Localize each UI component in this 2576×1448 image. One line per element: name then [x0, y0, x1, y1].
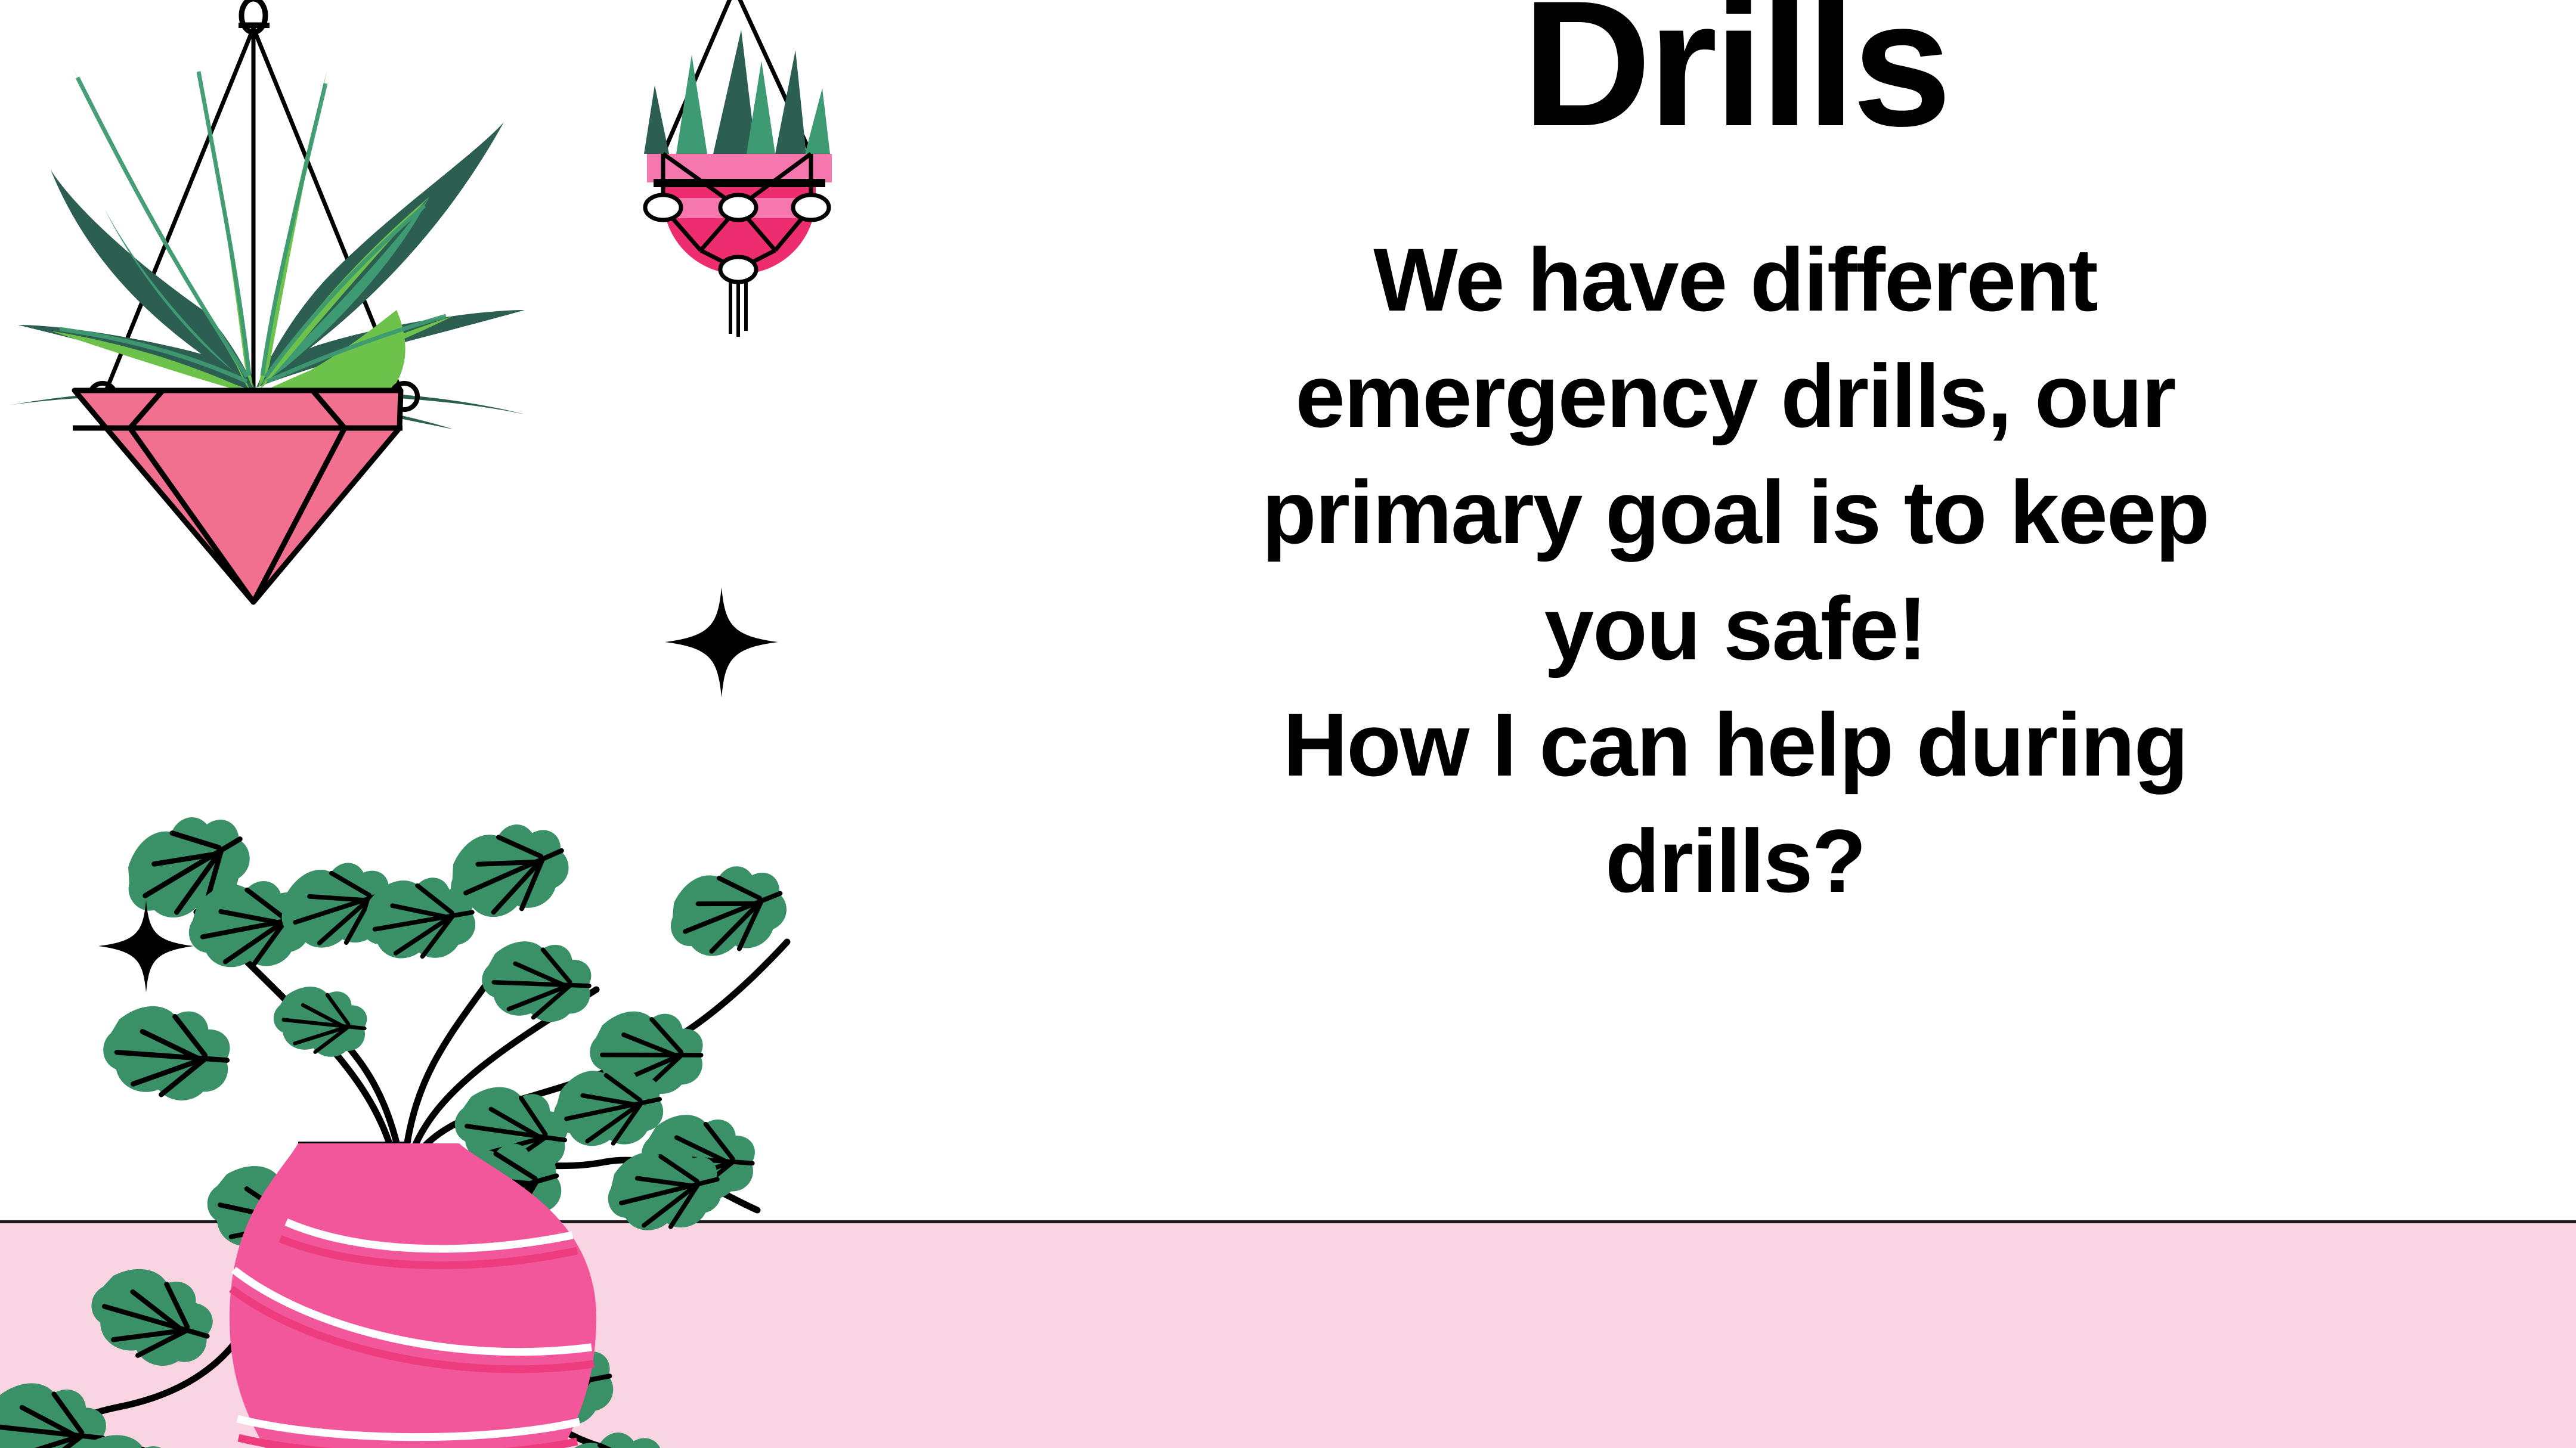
succulent-leaves: [644, 30, 830, 154]
succulent-pot-band: [654, 179, 825, 187]
body-line-2: emergency drills, our: [1139, 338, 2332, 454]
body-line-3: primary goal is to keep: [1139, 454, 2332, 570]
plant-hanger-cords: [106, 28, 401, 390]
plant-hanger-bar: [239, 23, 270, 28]
text-column: Drills We have different emergency drill…: [1091, 0, 2379, 1448]
vase-mouth-shadow: [298, 1142, 411, 1162]
macrame-cords: [663, 0, 811, 154]
body-line-4: you safe!: [1139, 570, 2332, 687]
body-line-1: We have different: [1139, 222, 2332, 338]
sparkle-star-lower-icon: [98, 900, 194, 993]
spider-plant-bright-leaves: [51, 57, 453, 413]
body-copy: We have different emergency drills, our …: [1139, 222, 2332, 919]
macrame-tassel: [730, 281, 746, 337]
hanging-spider-plant: [0, 0, 566, 835]
body-line-5: How I can help during: [1139, 687, 2332, 803]
hanging-succulent-macrame: [596, 0, 883, 477]
spider-plant-mid-leaves: [104, 197, 429, 390]
succulent-pot-rim: [647, 154, 832, 182]
slide-canvas: Drills We have different emergency drill…: [0, 0, 2576, 1448]
spider-plant-dark-leaves: [9, 122, 525, 429]
macrame-beads: [645, 195, 829, 282]
body-line-6: drills?: [1139, 803, 2332, 919]
succulent-pot-stripe: [663, 198, 816, 218]
macrame-netting: [663, 154, 811, 269]
succulent-pot-body: [663, 182, 816, 274]
pot-cord-rings: [89, 383, 417, 410]
sparkle-star-upper-icon: [665, 587, 778, 697]
page-title: Drills: [1522, 0, 1948, 153]
diamond-pot: [73, 390, 402, 602]
plant-hanger-hook: [240, 0, 267, 32]
